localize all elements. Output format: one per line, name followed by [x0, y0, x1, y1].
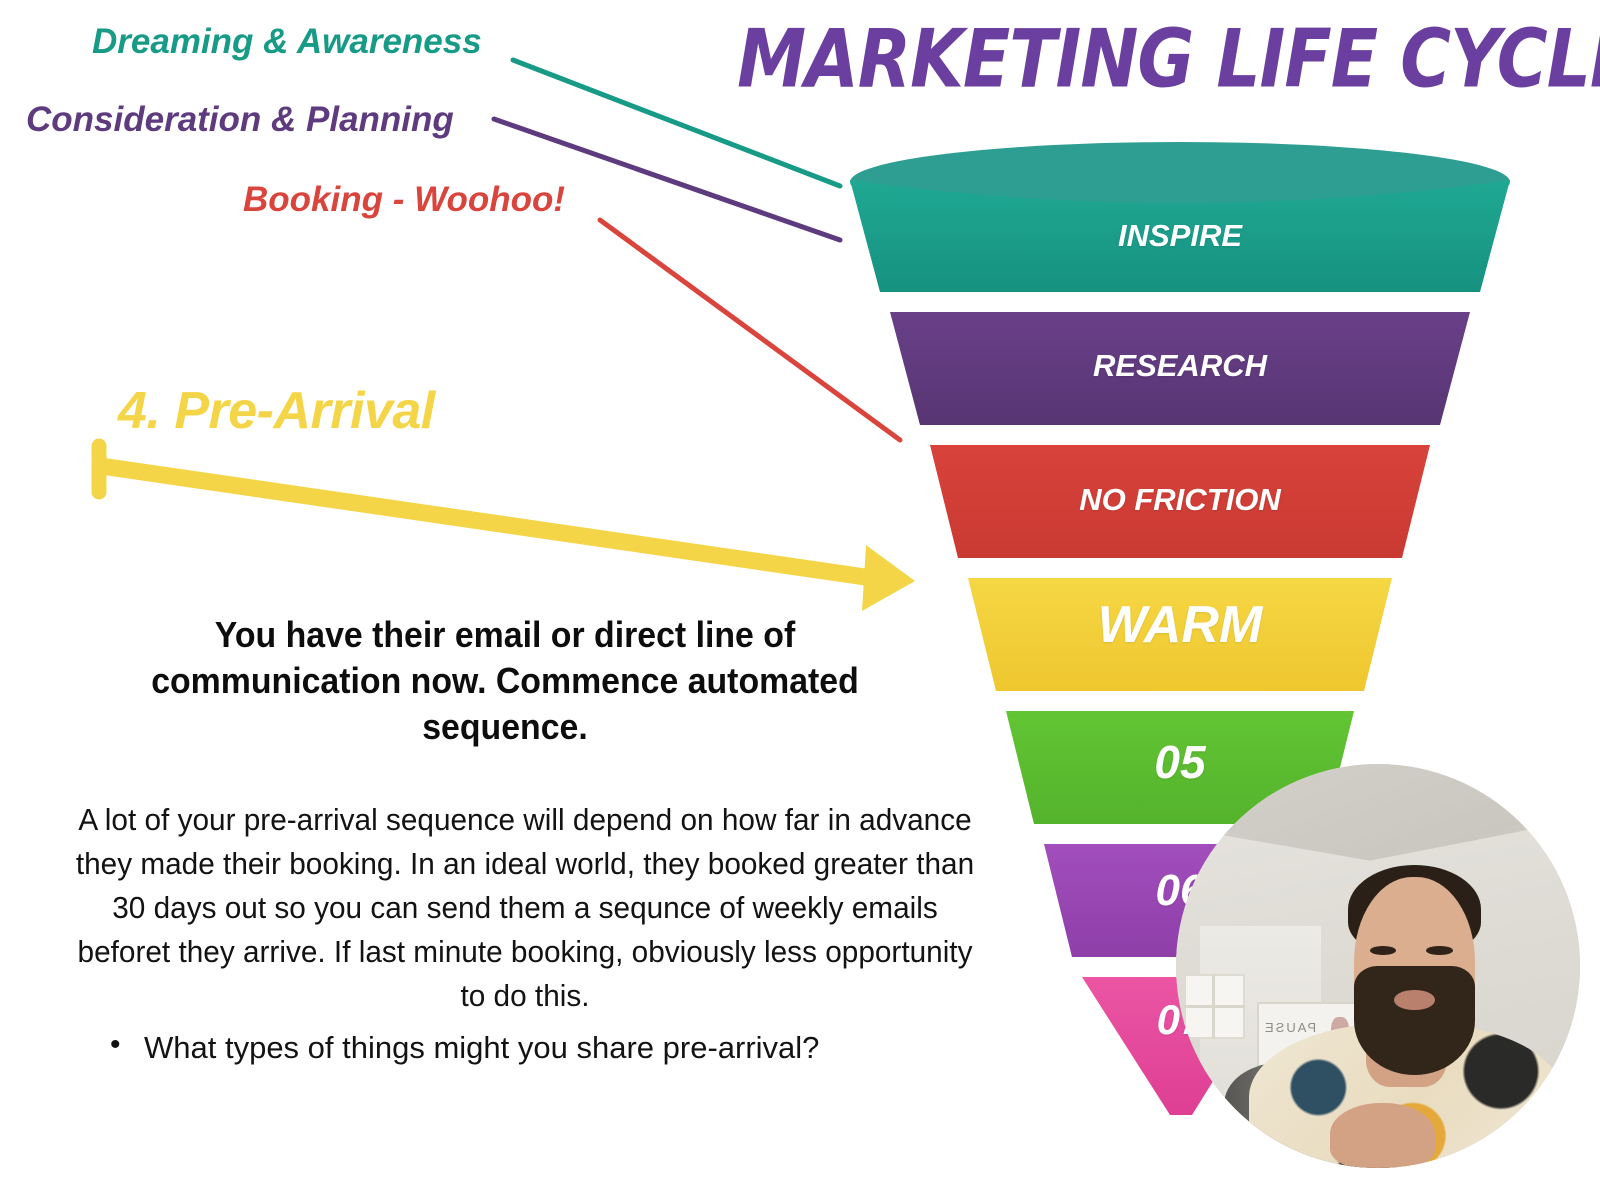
callout-label-consideration: Consideration & Planning [26, 100, 454, 140]
callout-label-booking: Booking - Woohoo! [243, 180, 565, 220]
page-title: MARKETING LIFE CYCLE [737, 18, 1543, 102]
funnel-segment-no-friction [930, 445, 1430, 558]
arrow-shaft [101, 466, 872, 578]
slide-canvas: MARKETING LIFE CYCLE Dreaming & Awarenes… [0, 0, 1600, 1200]
section-heading: 4. Pre-Arrival [118, 381, 435, 441]
funnel-segment-research [890, 312, 1470, 425]
pre-arrival-arrow [99, 446, 915, 611]
presenter-video-bubble[interactable]: PAUSE [1176, 764, 1580, 1168]
funnel-segment-warm [968, 578, 1392, 691]
callout-label-dreaming: Dreaming & Awareness [92, 22, 482, 62]
lead-paragraph: You have their email or direct line of c… [106, 612, 905, 750]
presenter-hand [1330, 1103, 1435, 1168]
presenter-eye-right [1426, 946, 1452, 955]
video-background-window [1184, 974, 1245, 1039]
wall-art-text: PAUSE [1263, 1020, 1316, 1035]
presenter-eye-left [1370, 946, 1396, 955]
presenter-beard [1354, 966, 1475, 1075]
